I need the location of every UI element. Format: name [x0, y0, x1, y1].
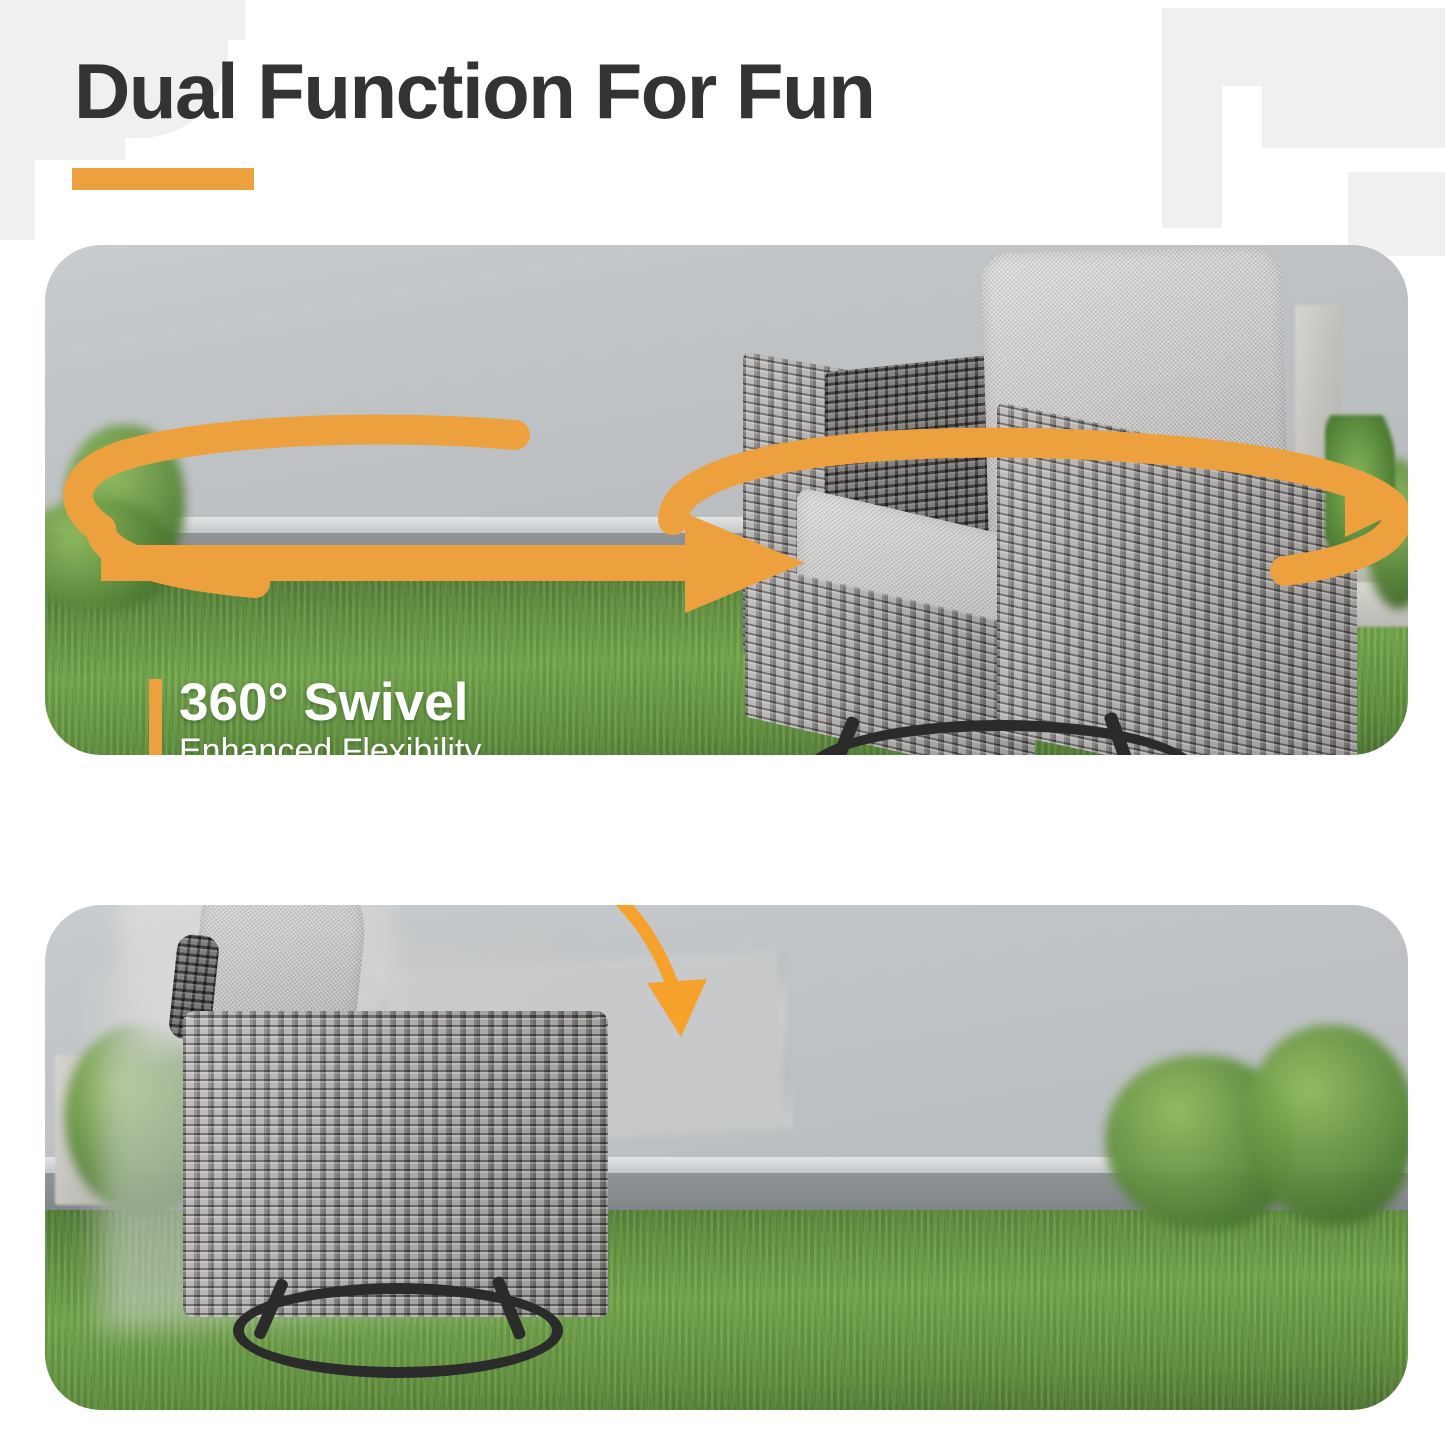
rocking-arrow-graphic [345, 905, 765, 1105]
feature-accent-bar [149, 679, 162, 755]
feature-card-swivel: 360° 360° Swivel Enhanced Flexibility [45, 245, 1408, 755]
title-underline-accent [72, 168, 254, 190]
swivel-base-ring [233, 1283, 563, 1378]
feature-text-swivel: 360° Swivel Enhanced Flexibility [149, 675, 481, 755]
header: Dual Function For Fun [0, 0, 1445, 230]
plant-behind-chair [1325, 415, 1395, 565]
feature-title-swivel: 360° Swivel [179, 675, 481, 731]
page-title: Dual Function For Fun [74, 52, 874, 130]
feature-card-rocking: Smooth Rocking Enjoy Extreme Comfort [45, 905, 1408, 1410]
product-swivel-chair [685, 245, 1405, 755]
feature-subtitle-swivel: Enhanced Flexibility [179, 731, 481, 755]
chair-right-arm [997, 402, 1357, 755]
